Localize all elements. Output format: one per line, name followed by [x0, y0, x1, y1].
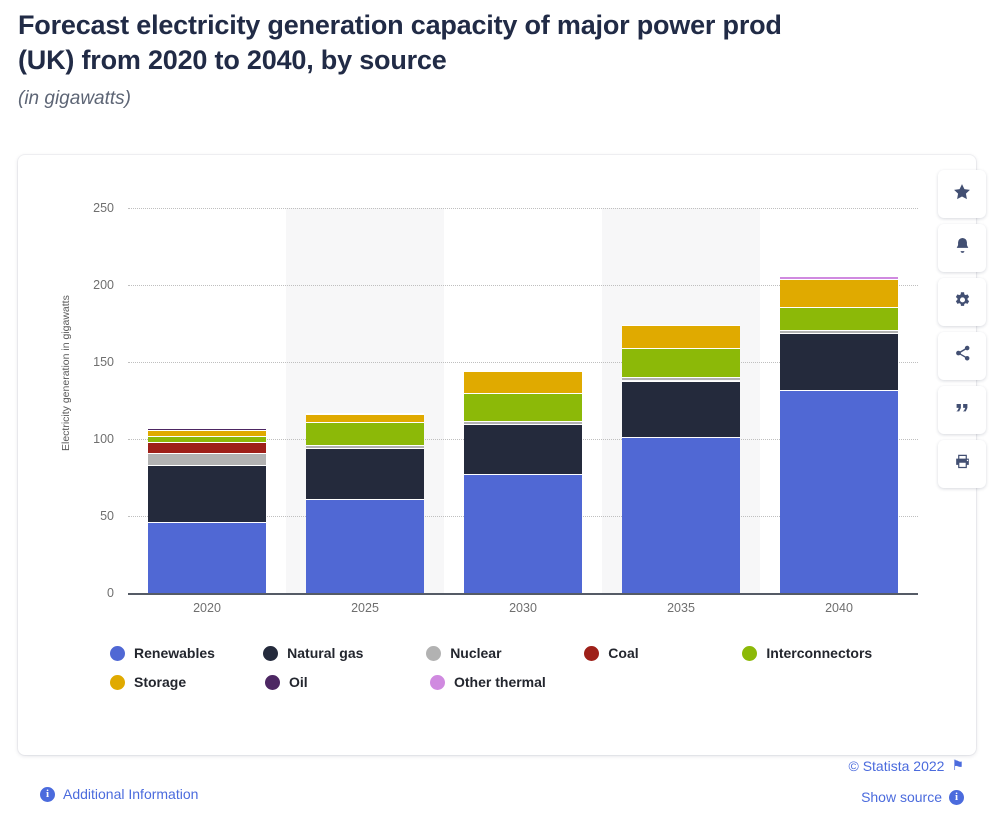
legend-item-renewables[interactable]: Renewables — [110, 645, 263, 661]
legend-color-swatch-icon — [430, 675, 445, 690]
settings-gear-icon — [953, 290, 972, 314]
bar-segment[interactable] — [464, 474, 582, 593]
legend-color-swatch-icon — [584, 646, 599, 661]
notification-bell-icon — [953, 236, 972, 260]
chart-plot-area: Electricity generation in gigawatts 0501… — [18, 155, 976, 610]
y-axis-ticks: 050100150200250 — [66, 155, 114, 610]
print-button[interactable] — [938, 440, 986, 488]
x-tick-label: 2040 — [825, 601, 853, 615]
notification-bell-button[interactable] — [938, 224, 986, 272]
flag-icon[interactable]: ⚑ — [951, 757, 964, 774]
copyright-notice: © Statista 2022 ⚑ — [849, 757, 965, 774]
statista-chart-page: Forecast electricity generation capacity… — [0, 0, 994, 823]
bar-segment[interactable] — [306, 414, 424, 422]
legend-label: Other thermal — [454, 674, 546, 690]
bar-segment[interactable] — [148, 465, 266, 522]
bar-segment[interactable] — [148, 428, 266, 430]
favorite-icon — [952, 182, 972, 207]
bar-segment[interactable] — [622, 325, 740, 348]
y-tick-label: 100 — [66, 432, 114, 446]
gridline — [128, 208, 918, 209]
y-tick-label: 150 — [66, 355, 114, 369]
x-tick-label: 2030 — [509, 601, 537, 615]
legend-item-nuclear[interactable]: Nuclear — [426, 645, 584, 661]
legend-color-swatch-icon — [426, 646, 441, 661]
bar-segment[interactable] — [464, 393, 582, 421]
show-source-label: Show source — [861, 789, 942, 805]
legend-color-swatch-icon — [742, 646, 757, 661]
bar-segment[interactable] — [780, 330, 898, 333]
stacked-bar[interactable] — [780, 276, 898, 593]
citation-quote-button[interactable] — [938, 386, 986, 434]
chart-header: Forecast electricity generation capacity… — [0, 0, 994, 110]
y-tick-label: 250 — [66, 201, 114, 215]
bar-segment[interactable] — [148, 522, 266, 593]
y-tick-label: 200 — [66, 278, 114, 292]
settings-gear-button[interactable] — [938, 278, 986, 326]
bar-segment[interactable] — [780, 390, 898, 593]
legend-item-other-thermal[interactable]: Other thermal — [430, 674, 590, 690]
stacked-bar[interactable] — [622, 325, 740, 593]
legend-label: Interconnectors — [766, 645, 872, 661]
x-axis-line — [128, 593, 918, 595]
legend-label: Storage — [134, 674, 186, 690]
stacked-bar[interactable] — [464, 371, 582, 593]
bar-segment[interactable] — [622, 381, 740, 438]
chart-card: Electricity generation in gigawatts 0501… — [18, 155, 976, 755]
bar-segment[interactable] — [622, 348, 740, 377]
page-subtitle: (in gigawatts) — [18, 88, 994, 110]
legend-label: Natural gas — [287, 645, 363, 661]
legend-color-swatch-icon — [263, 646, 278, 661]
citation-quote-icon — [953, 399, 971, 422]
legend-color-swatch-icon — [110, 675, 125, 690]
legend-item-natural-gas[interactable]: Natural gas — [263, 645, 426, 661]
y-tick-label: 50 — [66, 509, 114, 523]
additional-information-label: Additional Information — [63, 786, 198, 802]
copyright-text: © Statista 2022 — [849, 758, 945, 774]
favorite-button[interactable] — [938, 170, 986, 218]
bar-segment[interactable] — [780, 279, 898, 307]
bar-segment[interactable] — [780, 276, 898, 279]
bar-segment[interactable] — [622, 437, 740, 593]
additional-information-link[interactable]: i Additional Information — [40, 786, 198, 802]
legend-item-interconnectors[interactable]: Interconnectors — [742, 645, 940, 661]
y-tick-label: 0 — [66, 586, 114, 600]
x-tick-label: 2020 — [193, 601, 221, 615]
stacked-bar[interactable] — [148, 427, 266, 593]
x-tick-label: 2025 — [351, 601, 379, 615]
chart-action-toolbar — [938, 170, 986, 494]
x-tick-label: 2035 — [667, 601, 695, 615]
bar-segment[interactable] — [306, 448, 424, 499]
legend-item-storage[interactable]: Storage — [110, 674, 265, 690]
bar-segment[interactable] — [306, 413, 424, 415]
print-icon — [953, 452, 972, 476]
bar-segment[interactable] — [464, 371, 582, 393]
bar-segment[interactable] — [780, 333, 898, 390]
legend-label: Renewables — [134, 645, 215, 661]
bar-segment[interactable] — [306, 422, 424, 445]
bar-segment[interactable] — [780, 307, 898, 330]
legend-item-oil[interactable]: Oil — [265, 674, 430, 690]
show-source-link[interactable]: Show source i — [861, 789, 964, 805]
legend-label: Coal — [608, 645, 638, 661]
bar-segment[interactable] — [148, 430, 266, 436]
legend-item-coal[interactable]: Coal — [584, 645, 742, 661]
share-button[interactable] — [938, 332, 986, 380]
info-icon: i — [949, 790, 964, 805]
share-icon — [953, 344, 972, 368]
legend-row: StorageOilOther thermal — [110, 674, 940, 690]
bar-segment[interactable] — [306, 499, 424, 593]
chart-legend: RenewablesNatural gasNuclearCoalIntercon… — [110, 645, 940, 703]
bar-segment[interactable] — [464, 424, 582, 475]
info-icon: i — [40, 787, 55, 802]
stacked-bar[interactable] — [306, 413, 424, 593]
bar-segment[interactable] — [464, 421, 582, 424]
legend-label: Oil — [289, 674, 308, 690]
bar-segment[interactable] — [148, 427, 266, 429]
legend-color-swatch-icon — [110, 646, 125, 661]
legend-row: RenewablesNatural gasNuclearCoalIntercon… — [110, 645, 940, 661]
legend-color-swatch-icon — [265, 675, 280, 690]
bar-segment[interactable] — [148, 436, 266, 442]
bar-segment[interactable] — [148, 453, 266, 465]
page-title-line1: Forecast electricity generation capacity… — [18, 8, 994, 43]
bar-segment[interactable] — [306, 445, 424, 448]
legend-label: Nuclear — [450, 645, 501, 661]
bar-segment[interactable] — [622, 377, 740, 380]
page-title-line2: (UK) from 2020 to 2040, by source — [18, 43, 994, 78]
bar-segment[interactable] — [148, 442, 266, 453]
